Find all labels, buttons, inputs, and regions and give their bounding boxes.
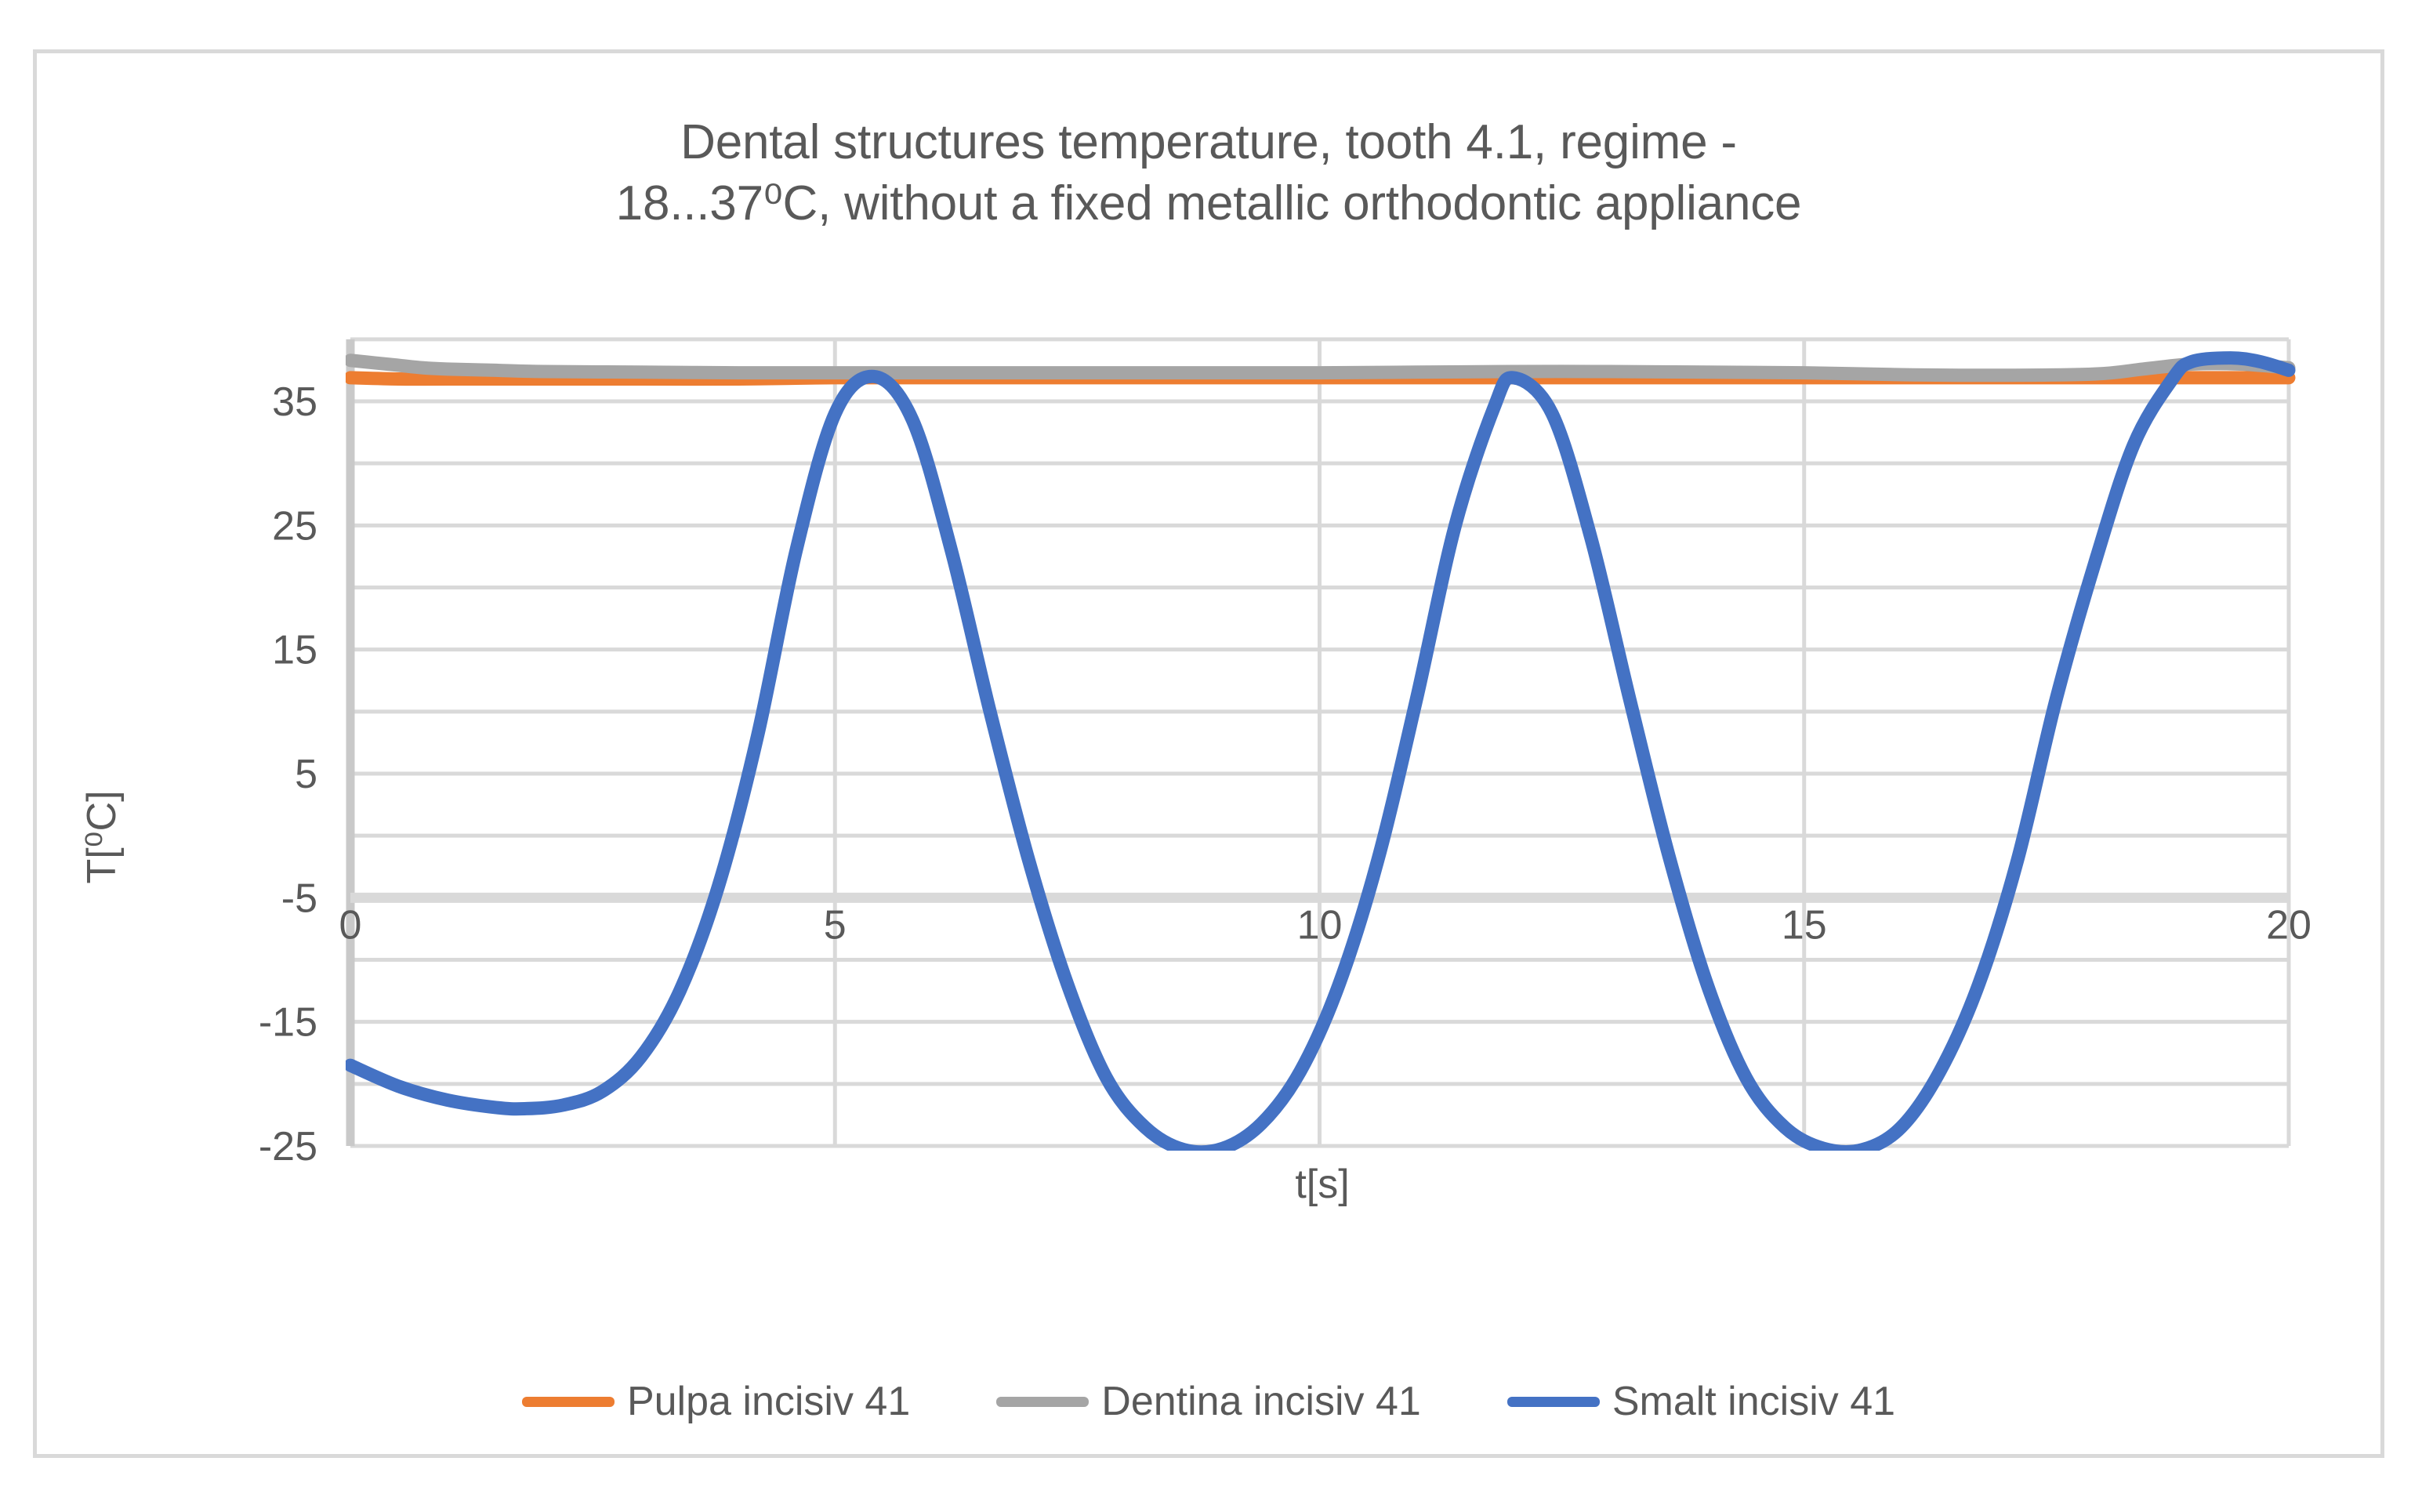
legend-item[interactable]: Pulpa incisiv 41 xyxy=(522,1378,910,1425)
legend-item[interactable]: Smalt incisiv 41 xyxy=(1507,1378,1895,1425)
x-tick-label: 5 xyxy=(824,902,847,948)
y-tick-label: -25 xyxy=(259,1124,317,1169)
legend-color-swatch xyxy=(996,1397,1089,1407)
y-tick-label: 35 xyxy=(272,379,317,425)
legend-label: Smalt incisiv 41 xyxy=(1612,1378,1895,1425)
legend-color-swatch xyxy=(522,1397,615,1407)
y-tick-label: 5 xyxy=(295,752,317,797)
y-axis-title: T[⁰C] xyxy=(79,790,125,883)
y-axis-tick-labels: 3525155-5-15-25 xyxy=(259,379,317,1169)
legend-label: Pulpa incisiv 41 xyxy=(627,1378,910,1425)
x-tick-label: 15 xyxy=(1782,902,1827,948)
chart-container: Dental structures temperature, tooth 4.1… xyxy=(33,49,2384,1458)
y-tick-label: 15 xyxy=(272,628,317,673)
legend-label: Dentina incisiv 41 xyxy=(1101,1378,1421,1425)
x-tick-label: 20 xyxy=(2266,902,2311,948)
plot-area: 3525155-5-15-25 05101520 T[⁰C] t[s] xyxy=(37,53,2388,1462)
y-tick-label: -5 xyxy=(281,876,317,921)
x-axis-tick-labels: 05101520 xyxy=(339,902,2311,948)
x-tick-label: 0 xyxy=(339,902,362,948)
x-axis-title: t[s] xyxy=(1295,1162,1349,1207)
x-tick-label: 10 xyxy=(1297,902,1343,948)
legend-item[interactable]: Dentina incisiv 41 xyxy=(996,1378,1421,1425)
y-tick-label: -15 xyxy=(259,1000,317,1046)
y-tick-label: 25 xyxy=(272,503,317,549)
chart-legend: Pulpa incisiv 41Dentina incisiv 41Smalt … xyxy=(37,1378,2380,1425)
legend-color-swatch xyxy=(1507,1397,1600,1407)
